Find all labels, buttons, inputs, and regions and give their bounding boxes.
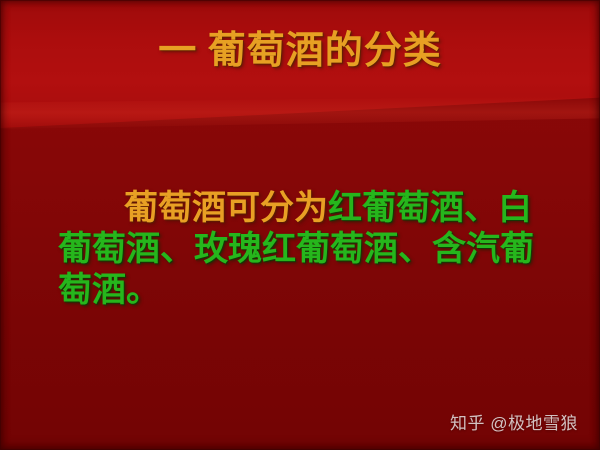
slide-body-paragraph: 葡萄酒可分为红葡萄酒、白葡萄酒、玫瑰红葡萄酒、含汽葡萄酒。 <box>58 188 563 311</box>
watermark-label: 知乎 @极地雪狼 <box>450 414 578 434</box>
body-segment-lead: 葡萄酒可分为 <box>124 190 328 227</box>
slide-title: 一 葡萄酒的分类 <box>0 28 600 74</box>
slide-canvas: 一 葡萄酒的分类 葡萄酒可分为红葡萄酒、白葡萄酒、玫瑰红葡萄酒、含汽葡萄酒。 知… <box>0 0 600 450</box>
